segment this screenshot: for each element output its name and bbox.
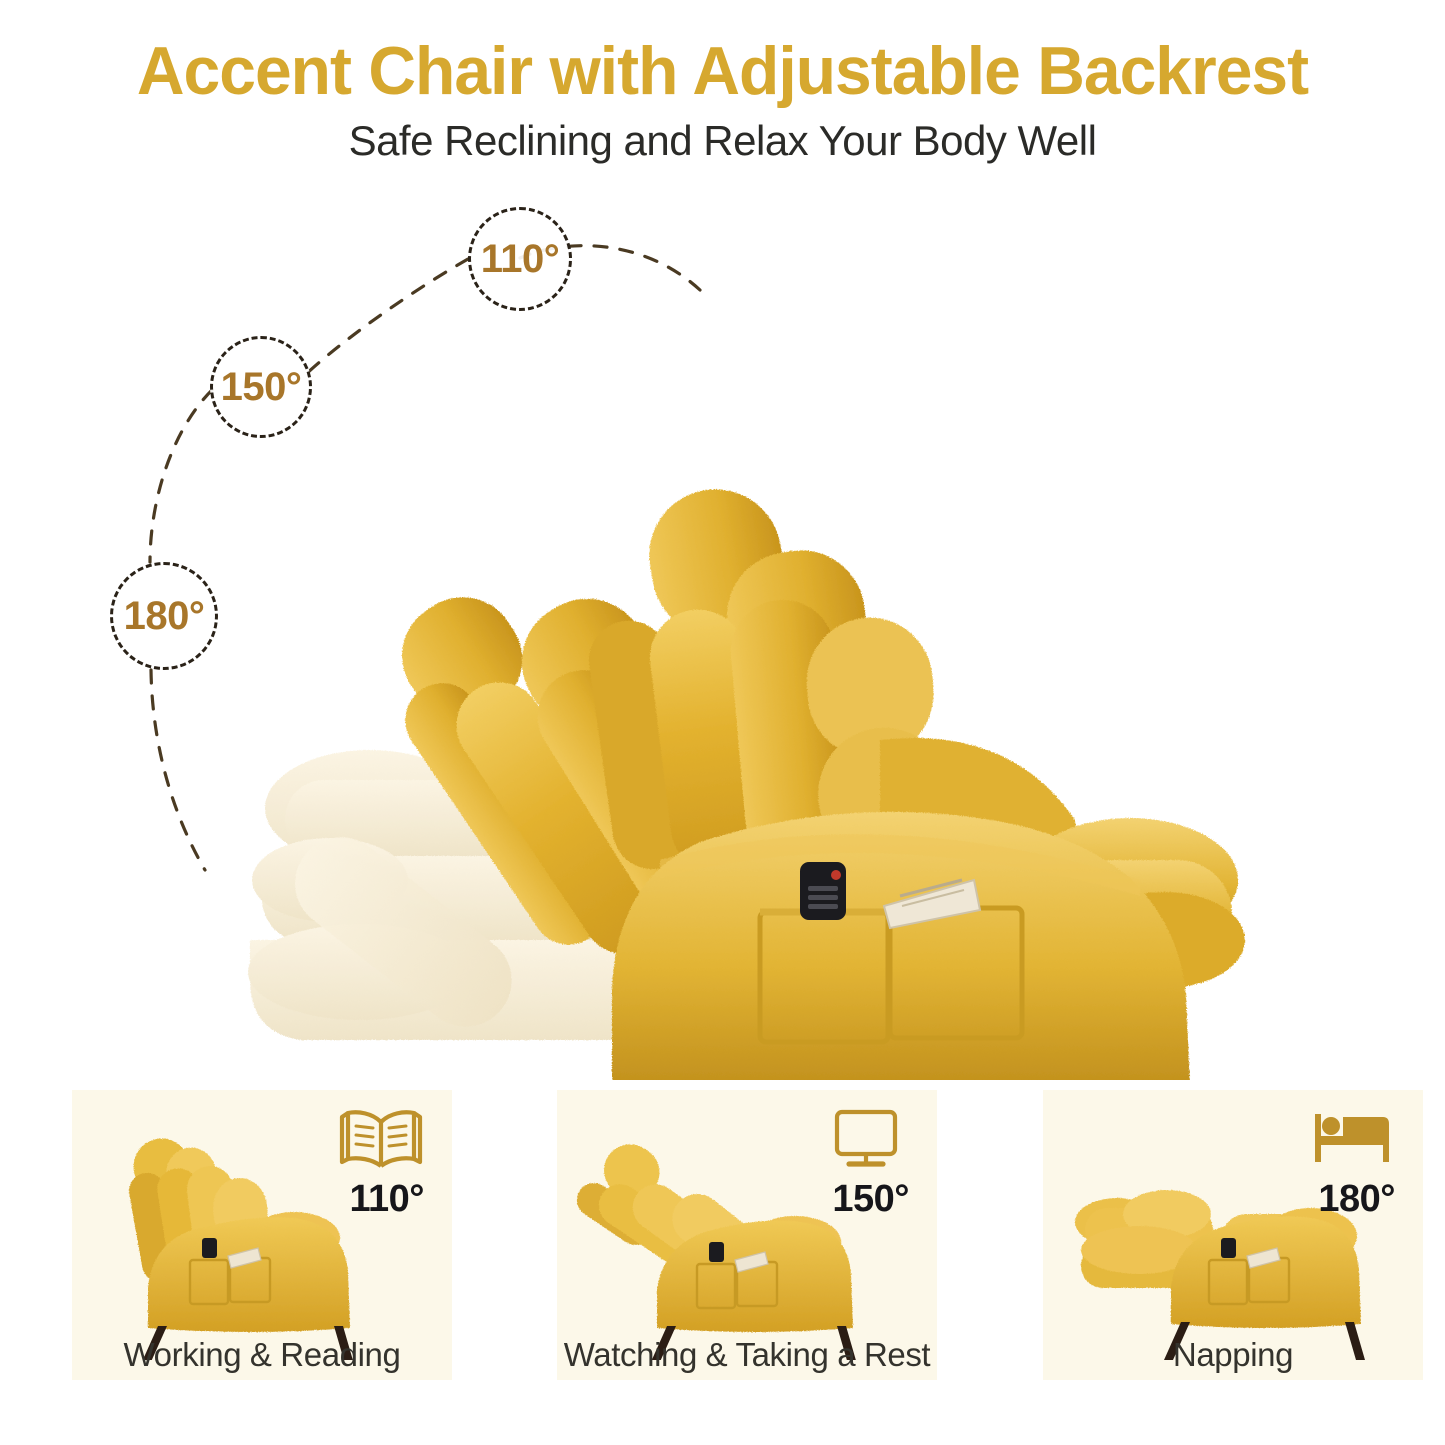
remote-control xyxy=(800,862,846,920)
use-case-panels: 110° Working & Reading xyxy=(0,1085,1445,1445)
use-case-panel-watching-rest: 150° Watching & Taking a Rest xyxy=(557,1090,937,1380)
panel-label-watching-rest: Watching & Taking a Rest xyxy=(557,1336,937,1374)
use-case-panel-working-reading: 110° Working & Reading xyxy=(72,1090,452,1380)
angle-badge-110-label: 110° xyxy=(481,237,560,282)
header: Accent Chair with Adjustable Backrest Sa… xyxy=(0,0,1445,180)
page-title: Accent Chair with Adjustable Backrest xyxy=(22,36,1424,107)
angle-badge-150-label: 150° xyxy=(221,365,302,410)
panel-angle-180: 180° xyxy=(1265,1178,1395,1221)
bed-icon xyxy=(1309,1104,1395,1176)
use-case-panel-napping: 180° Napping xyxy=(1043,1090,1423,1380)
panel-label-working-reading: Working & Reading xyxy=(72,1336,452,1374)
page-subtitle: Safe Reclining and Relax Your Body Well xyxy=(0,118,1445,164)
angle-badge-110: 110° xyxy=(468,207,572,311)
panel-angle-110: 110° xyxy=(294,1178,424,1221)
hero-illustration: 110° 150° 180° xyxy=(0,180,1445,1080)
monitor-icon xyxy=(823,1104,909,1176)
chair-artwork xyxy=(0,180,1445,1080)
book-icon xyxy=(338,1104,424,1176)
panel-angle-150: 150° xyxy=(779,1178,909,1221)
angle-badge-180: 180° xyxy=(110,562,218,670)
angle-badge-150: 150° xyxy=(210,336,312,438)
panel-label-napping: Napping xyxy=(1043,1336,1423,1374)
angle-badge-180-label: 180° xyxy=(124,594,205,639)
